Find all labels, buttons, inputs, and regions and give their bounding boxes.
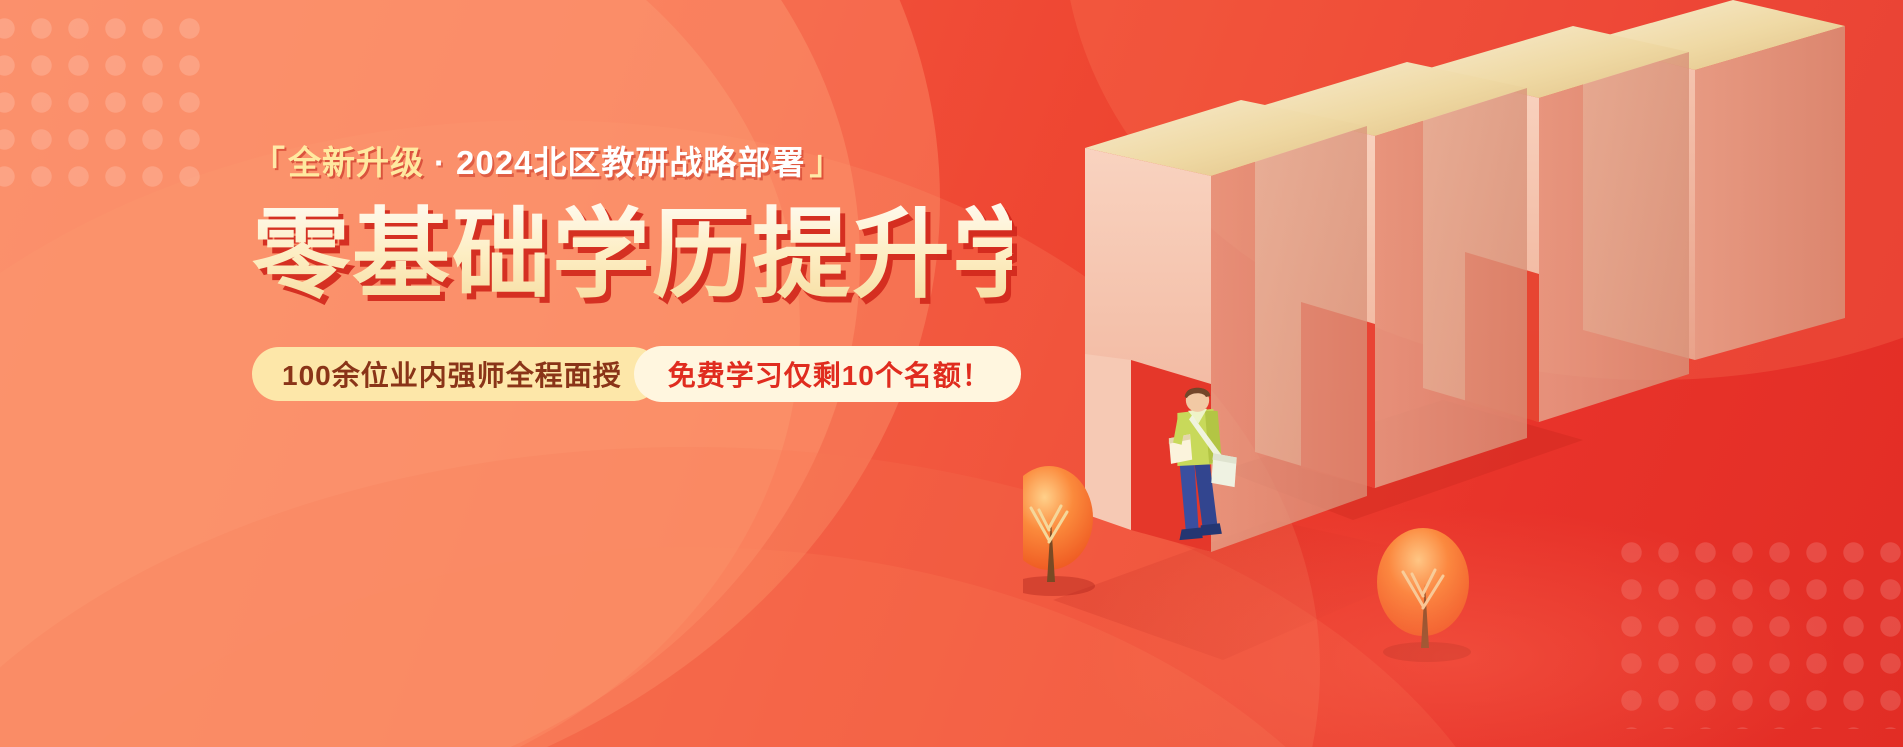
banner-eyebrow: 「 全新升级 · 2024北区教研战略部署 」 [252,140,1012,186]
illustration-books-and-student [1023,0,1903,747]
dot-pattern-bottom-right [1613,534,1903,729]
wave-shape-top-right [1063,0,1903,380]
tree-left [1023,466,1095,596]
wave-shape-bottom-2 [0,547,1440,747]
banner-pill-group: 100余位业内强师全程面授 免费学习仅剩10个名额！ [252,346,1012,402]
bracket-left-icon: 「 [252,140,286,186]
pill-free-slots-badge: 免费学习仅剩10个名额！ [634,346,1021,402]
dot-pattern-top-left [0,10,208,200]
book-arch-4 [1583,0,1845,360]
promo-banner: 「 全新升级 · 2024北区教研战略部署 」 零基础学历提升学霸班 100余位… [0,0,1903,747]
book-arch-2 [1255,62,1527,488]
tree-right [1377,528,1471,662]
student-figure [1169,388,1237,540]
eyebrow-gold-text: 全新升级 [288,140,424,186]
pill-teachers-badge: 100余位业内强师全程面授 [252,347,660,401]
banner-headline: 零基础学历提升学霸班 [252,200,1012,310]
book-arch-3 [1423,26,1689,422]
ground-glow [1063,507,1843,747]
eyebrow-separator: · [434,140,446,186]
book-arch-1 [1085,100,1367,552]
arch-shadows [1053,400,1583,660]
bracket-right-icon: 」 [809,140,843,186]
wave-shape-bottom [0,447,1540,747]
eyebrow-white-text: 2024北区教研战略部署 [456,140,805,186]
banner-content: 「 全新升级 · 2024北区教研战略部署 」 零基础学历提升学霸班 100余位… [252,140,1012,402]
